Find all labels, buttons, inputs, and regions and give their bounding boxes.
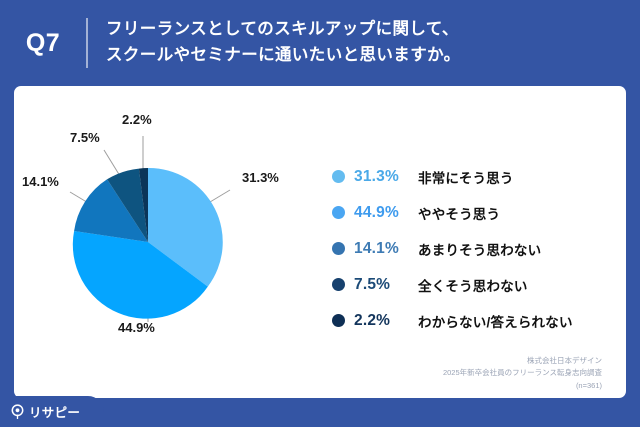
pie-label-31: 31.3%: [242, 170, 279, 185]
source-sample-size: (n=361): [443, 380, 602, 392]
legend-color-dot-icon: [332, 278, 345, 291]
location-pin-icon: [10, 404, 25, 420]
page-title: フリーランスとしてのスキルアップに関して、 スクールやセミナーに通いたいと思いま…: [106, 17, 461, 68]
legend-percent: 14.1%: [354, 240, 418, 258]
source-company: 株式会社日本デザイン: [443, 355, 602, 367]
pie-label-75: 7.5%: [70, 130, 100, 145]
legend-color-dot-icon: [332, 170, 345, 183]
pie-chart: 31.3% 44.9% 14.1% 7.5% 2.2%: [14, 86, 324, 398]
legend-item[interactable]: 7.5% 全くそう思わない: [332, 270, 622, 299]
legend-item[interactable]: 2.2% わからない/答えられない: [332, 306, 622, 335]
question-number: Q7: [0, 29, 86, 58]
legend-label: 全くそう思わない: [418, 275, 528, 295]
logo[interactable]: リサピー: [0, 396, 104, 427]
logo-text: リサピー: [29, 402, 80, 421]
page-title-line-1: フリーランスとしてのスキルアップに関して、: [106, 17, 461, 43]
legend: 31.3% 非常にそう思う 44.9% ややそう思う 14.1% あまりそう思わ…: [332, 162, 622, 342]
legend-label: わからない/答えられない: [418, 311, 573, 331]
pie-label-14: 14.1%: [22, 174, 59, 189]
source-note: 株式会社日本デザイン 2025年新卒会社員のフリーランス転身志向調査 (n=36…: [443, 355, 602, 392]
leader-line-31: [210, 190, 230, 202]
leader-line-75: [104, 150, 120, 176]
page-title-line-2: スクールやセミナーに通いたいと思いますか。: [106, 43, 461, 69]
legend-item[interactable]: 44.9% ややそう思う: [332, 198, 622, 227]
legend-percent: 2.2%: [354, 312, 418, 330]
source-survey: 2025年新卒会社員のフリーランス転身志向調査: [443, 367, 602, 379]
pie-label-45: 44.9%: [118, 320, 155, 335]
legend-percent: 31.3%: [354, 168, 418, 186]
legend-color-dot-icon: [332, 206, 345, 219]
legend-color-dot-icon: [332, 242, 345, 255]
legend-item[interactable]: 14.1% あまりそう思わない: [332, 234, 622, 263]
header-divider: [86, 18, 88, 68]
slide-root: Q7 フリーランスとしてのスキルアップに関して、 スクールやセミナーに通いたいと…: [0, 0, 640, 427]
legend-percent: 7.5%: [354, 276, 418, 294]
pie-chart-svg: [24, 94, 274, 390]
legend-color-dot-icon: [332, 314, 345, 327]
pie-label-22: 2.2%: [122, 112, 152, 127]
legend-percent: 44.9%: [354, 204, 418, 222]
header-bar: Q7 フリーランスとしてのスキルアップに関して、 スクールやセミナーに通いたいと…: [0, 0, 640, 86]
legend-label: あまりそう思わない: [418, 239, 541, 259]
legend-label: 非常にそう思う: [418, 167, 514, 187]
legend-item[interactable]: 31.3% 非常にそう思う: [332, 162, 622, 191]
content-card: 31.3% 44.9% 14.1% 7.5% 2.2% 31.3% 非常にそう思…: [14, 86, 626, 398]
legend-label: ややそう思う: [418, 203, 500, 223]
pie-slices: [73, 168, 223, 319]
